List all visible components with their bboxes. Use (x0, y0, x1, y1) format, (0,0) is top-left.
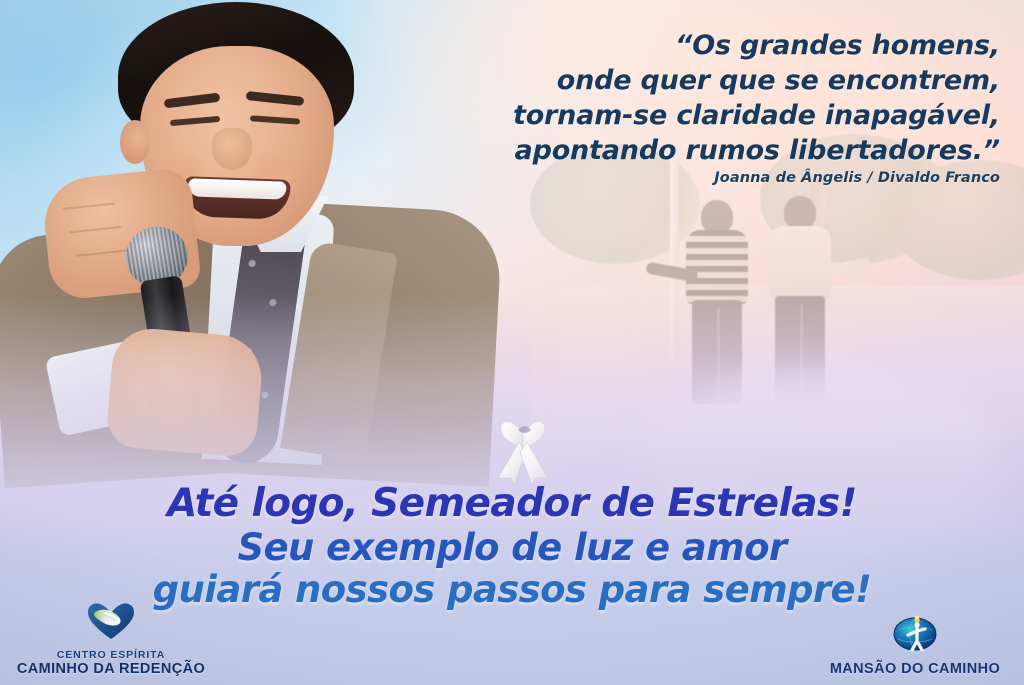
tribute-poster: “Os grandes homens, onde quer que se enc… (0, 0, 1024, 685)
vignette (0, 0, 1024, 685)
